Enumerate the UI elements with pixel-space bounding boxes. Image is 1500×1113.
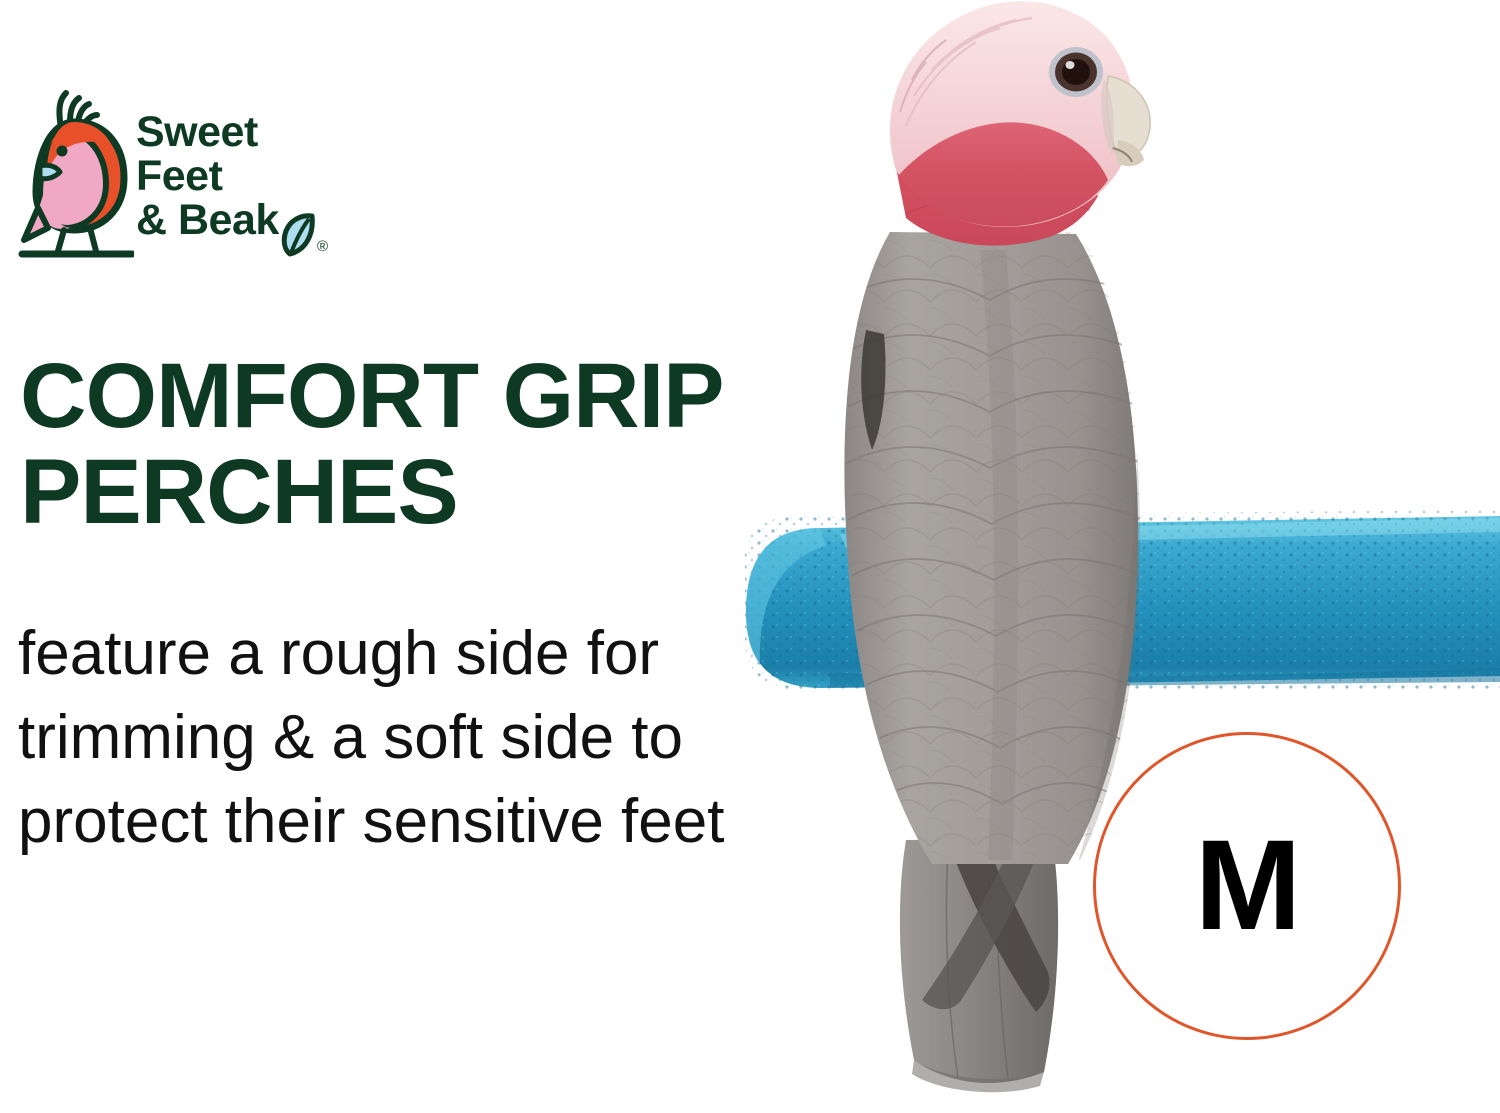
brand-logo: Sweet Feet & Beak ® bbox=[14, 88, 344, 268]
leaf-icon bbox=[276, 212, 318, 258]
cockatoo-logo-icon bbox=[14, 88, 134, 260]
description-line-2: trimming & a soft side to bbox=[18, 696, 818, 780]
product-infographic: Sweet Feet & Beak ® COMFORT GRIP PERCHES… bbox=[0, 0, 1500, 1113]
description-line-1: feature a rough side for bbox=[18, 612, 818, 696]
description-line-3: protect their sensitive feet bbox=[18, 780, 818, 864]
registered-trademark-mark: ® bbox=[317, 238, 328, 255]
size-badge-label: M bbox=[1195, 822, 1300, 950]
wordmark-line-2: Feet bbox=[136, 154, 346, 198]
description-text: feature a rough side for trimming & a so… bbox=[18, 612, 818, 864]
size-badge: M bbox=[1093, 732, 1401, 1040]
wordmark-line-1: Sweet bbox=[136, 110, 346, 154]
